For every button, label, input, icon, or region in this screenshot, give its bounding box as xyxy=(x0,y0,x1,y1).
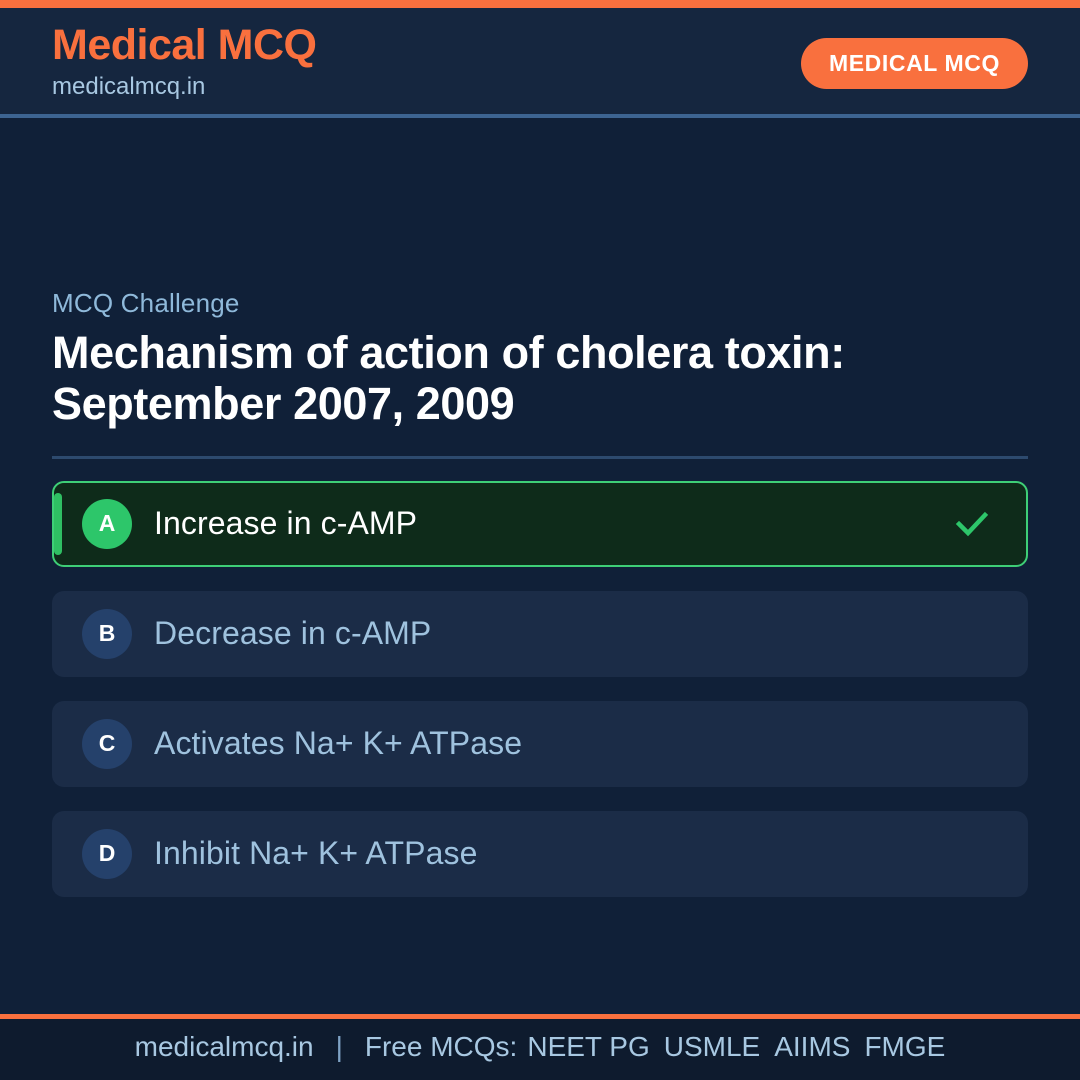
question-title: Mechanism of action of cholera toxin: Se… xyxy=(52,327,982,430)
option-row[interactable]: B Decrease in c-AMP xyxy=(52,591,1028,677)
page-footer: medicalmcq.in | Free MCQs: NEET PG USMLE… xyxy=(0,1014,1080,1080)
option-letter-badge: D xyxy=(82,829,132,879)
footer-content: medicalmcq.in | Free MCQs: NEET PG USMLE… xyxy=(135,1031,946,1063)
footer-label: Free MCQs: xyxy=(365,1031,517,1063)
option-label: Activates Na+ K+ ATPase xyxy=(154,724,522,762)
brand-subtitle: medicalmcq.in xyxy=(52,70,317,104)
footer-tag-fmge[interactable]: FMGE xyxy=(864,1031,945,1063)
footer-tag-aiims[interactable]: AIIMS xyxy=(774,1031,850,1063)
title-divider xyxy=(52,456,1028,459)
option-label: Increase in c-AMP xyxy=(154,504,417,542)
footer-separator: | xyxy=(336,1031,343,1063)
option-letter-badge: B xyxy=(82,609,132,659)
header-badge: MEDICAL MCQ xyxy=(801,38,1028,89)
check-icon xyxy=(954,506,990,542)
footer-tag-usmle[interactable]: USMLE xyxy=(664,1031,760,1063)
options-list: A Increase in c-AMP B Decrease in c-AMP … xyxy=(52,481,1028,897)
question-block: MCQ Challenge Mechanism of action of cho… xyxy=(52,288,1028,459)
footer-site-link[interactable]: medicalmcq.in xyxy=(135,1031,314,1063)
option-row[interactable]: A Increase in c-AMP xyxy=(52,481,1028,567)
brand-title: Medical MCQ xyxy=(52,23,317,68)
option-row[interactable]: D Inhibit Na+ K+ ATPase xyxy=(52,811,1028,897)
option-letter-badge: A xyxy=(82,499,132,549)
option-letter-badge: C xyxy=(82,719,132,769)
option-label: Inhibit Na+ K+ ATPase xyxy=(154,834,477,872)
footer-tag-neet-pg[interactable]: NEET PG xyxy=(527,1031,649,1063)
mcq-card: Medical MCQ medicalmcq.in MEDICAL MCQ MC… xyxy=(0,0,1080,1080)
top-accent-bar xyxy=(0,0,1080,8)
page-header: Medical MCQ medicalmcq.in MEDICAL MCQ xyxy=(0,8,1080,118)
option-row[interactable]: C Activates Na+ K+ ATPase xyxy=(52,701,1028,787)
page-body: MCQ Challenge Mechanism of action of cho… xyxy=(0,118,1080,1014)
brand: Medical MCQ medicalmcq.in xyxy=(52,23,317,104)
option-label: Decrease in c-AMP xyxy=(154,614,431,652)
question-eyebrow: MCQ Challenge xyxy=(52,288,1028,319)
